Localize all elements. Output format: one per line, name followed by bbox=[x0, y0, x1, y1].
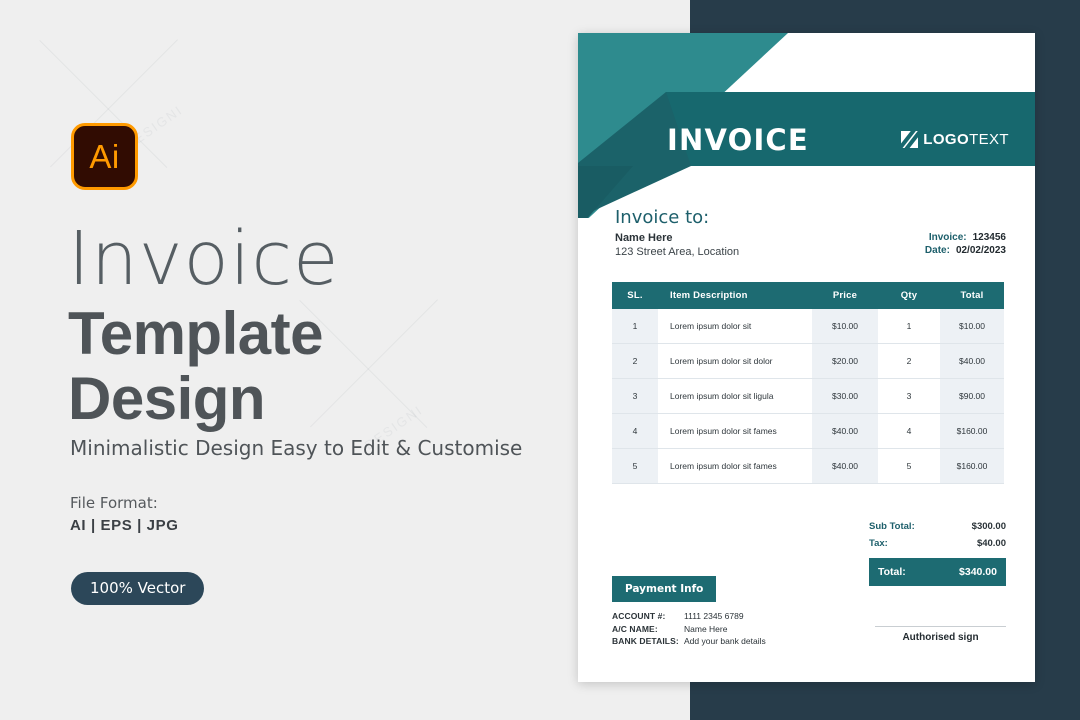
invoice-meta-row: Date:02/02/2023 bbox=[925, 244, 1006, 257]
table-row: 2 Lorem ipsum dolor sit dolor $20.00 2 $… bbox=[612, 344, 1004, 379]
invoice-to-heading: Invoice to: bbox=[615, 207, 709, 228]
cell-qty: 1 bbox=[878, 309, 940, 344]
promo-subtitle: Minimalistic Design Easy to Edit & Custo… bbox=[70, 436, 522, 460]
promo-title-bold: Template Design bbox=[68, 302, 323, 432]
cell-price: $40.00 bbox=[812, 414, 878, 449]
account-name-value: Name Here bbox=[684, 623, 727, 636]
cell-total: $90.00 bbox=[940, 379, 1004, 414]
cell-desc: Lorem ipsum dolor sit fames bbox=[658, 449, 812, 484]
invoice-header-title: INVOICE bbox=[667, 123, 809, 157]
payment-detail-row: BANK DETAILS: Add your bank details bbox=[612, 635, 766, 648]
payment-details-list: ACCOUNT #: 1111 2345 6789 A/C NAME: Name… bbox=[612, 610, 766, 648]
payment-detail-row: ACCOUNT #: 1111 2345 6789 bbox=[612, 610, 766, 623]
col-header-qty: Qty bbox=[878, 282, 940, 309]
poster-canvas: DESIGNI DESIGNI Ai Invoice Template Desi… bbox=[0, 0, 1080, 720]
signature-line bbox=[875, 626, 1006, 627]
grand-total-value: $340.00 bbox=[959, 566, 997, 578]
line-items-head: SL. Item Description Price Qty Total bbox=[612, 282, 1004, 309]
promo-title-line1: Template bbox=[68, 302, 323, 367]
cell-sl: 1 bbox=[612, 309, 658, 344]
cell-qty: 4 bbox=[878, 414, 940, 449]
table-row: 4 Lorem ipsum dolor sit fames $40.00 4 $… bbox=[612, 414, 1004, 449]
invoice-number-value: 123456 bbox=[973, 232, 1006, 243]
cell-desc: Lorem ipsum dolor sit bbox=[658, 309, 812, 344]
cell-price: $40.00 bbox=[812, 449, 878, 484]
col-header-desc: Item Description bbox=[658, 282, 812, 309]
grand-total-label: Total: bbox=[878, 566, 906, 578]
table-row: 1 Lorem ipsum dolor sit $10.00 1 $10.00 bbox=[612, 309, 1004, 344]
promo-title-line2: Design bbox=[68, 367, 323, 432]
cell-total: $160.00 bbox=[940, 414, 1004, 449]
col-header-sl: SL. bbox=[612, 282, 658, 309]
invoice-date-label: Date: bbox=[925, 245, 950, 256]
subtotal-label: Sub Total: bbox=[869, 521, 915, 532]
vector-badge: 100% Vector bbox=[71, 572, 204, 605]
cell-desc: Lorem ipsum dolor sit dolor bbox=[658, 344, 812, 379]
table-header-row: SL. Item Description Price Qty Total bbox=[612, 282, 1004, 309]
signature-label: Authorised sign bbox=[875, 632, 1006, 643]
cell-total: $40.00 bbox=[940, 344, 1004, 379]
company-logo-text-bold: LOGO bbox=[923, 131, 969, 148]
cell-qty: 5 bbox=[878, 449, 940, 484]
cell-price: $20.00 bbox=[812, 344, 878, 379]
cell-total: $160.00 bbox=[940, 449, 1004, 484]
slash-square-logo-icon bbox=[901, 131, 918, 148]
line-items-table: SL. Item Description Price Qty Total 1 L… bbox=[612, 282, 1004, 484]
cell-sl: 3 bbox=[612, 379, 658, 414]
account-number-label: ACCOUNT #: bbox=[612, 610, 684, 623]
invoice-date-value: 02/02/2023 bbox=[956, 245, 1006, 256]
company-logo-text: LOGOTEXT bbox=[923, 131, 1009, 148]
file-format-label: File Format: bbox=[70, 494, 158, 512]
tax-label: Tax: bbox=[869, 538, 888, 549]
bank-details-value: Add your bank details bbox=[684, 635, 766, 648]
adobe-illustrator-icon-label: Ai bbox=[89, 140, 119, 173]
invoice-meta-row: Invoice:123456 bbox=[925, 231, 1006, 244]
line-items-body: 1 Lorem ipsum dolor sit $10.00 1 $10.00 … bbox=[612, 309, 1004, 484]
col-header-price: Price bbox=[812, 282, 878, 309]
invoice-to-address: 123 Street Area, Location bbox=[615, 246, 739, 258]
account-number-value: 1111 2345 6789 bbox=[684, 610, 744, 623]
invoice-meta: Invoice:123456 Date:02/02/2023 bbox=[925, 231, 1006, 257]
totals-block: Sub Total: $300.00 Tax: $40.00 Total: $3… bbox=[869, 518, 1006, 586]
promo-title-thin: Invoice bbox=[68, 222, 340, 296]
payment-info-button[interactable]: Payment Info bbox=[612, 576, 716, 602]
promo-panel: Ai Invoice Template Design Minimalistic … bbox=[0, 0, 578, 720]
payment-detail-row: A/C NAME: Name Here bbox=[612, 623, 766, 636]
cell-price: $10.00 bbox=[812, 309, 878, 344]
cell-desc: Lorem ipsum dolor sit fames bbox=[658, 414, 812, 449]
account-name-label: A/C NAME: bbox=[612, 623, 684, 636]
cell-desc: Lorem ipsum dolor sit ligula bbox=[658, 379, 812, 414]
cell-sl: 4 bbox=[612, 414, 658, 449]
cell-total: $10.00 bbox=[940, 309, 1004, 344]
grand-total-row: Total: $340.00 bbox=[869, 558, 1006, 586]
company-logo-text-light: TEXT bbox=[969, 131, 1009, 148]
col-header-total: Total bbox=[940, 282, 1004, 309]
subtotal-value: $300.00 bbox=[972, 521, 1006, 532]
cell-price: $30.00 bbox=[812, 379, 878, 414]
subtotal-row: Sub Total: $300.00 bbox=[869, 518, 1006, 535]
invoice-to-name: Name Here bbox=[615, 232, 672, 244]
tax-value: $40.00 bbox=[977, 538, 1006, 549]
adobe-illustrator-icon: Ai bbox=[71, 123, 138, 190]
bank-details-label: BANK DETAILS: bbox=[612, 635, 684, 648]
invoice-card: INVOICE LOGOTEXT Invoice to: Name Here 1… bbox=[578, 33, 1035, 682]
company-logo: LOGOTEXT bbox=[901, 131, 1009, 148]
cell-sl: 5 bbox=[612, 449, 658, 484]
cell-sl: 2 bbox=[612, 344, 658, 379]
file-format-value: AI | EPS | JPG bbox=[70, 517, 179, 534]
invoice-number-label: Invoice: bbox=[929, 232, 967, 243]
table-row: 3 Lorem ipsum dolor sit ligula $30.00 3 … bbox=[612, 379, 1004, 414]
cell-qty: 3 bbox=[878, 379, 940, 414]
tax-row: Tax: $40.00 bbox=[869, 535, 1006, 552]
table-row: 5 Lorem ipsum dolor sit fames $40.00 5 $… bbox=[612, 449, 1004, 484]
cell-qty: 2 bbox=[878, 344, 940, 379]
